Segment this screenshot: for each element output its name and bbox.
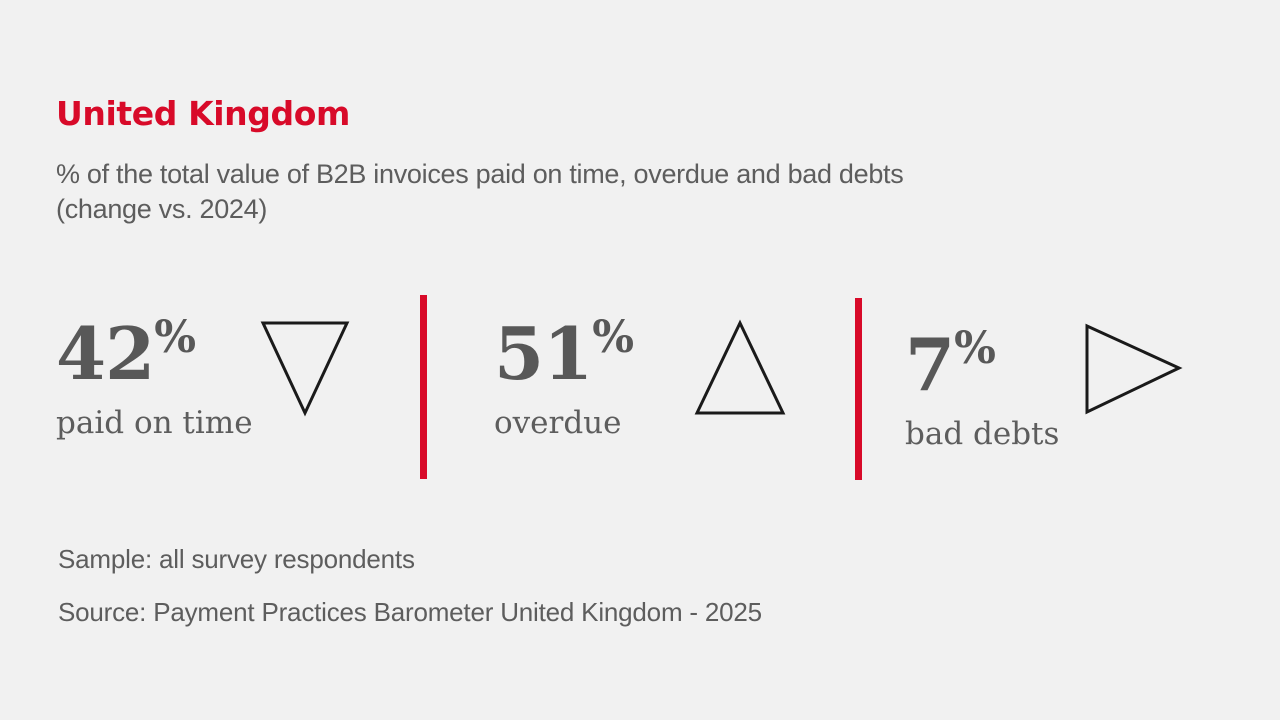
triangle-down-icon — [260, 319, 350, 417]
percent-sign: % — [954, 323, 995, 374]
stat-label-bad-debts: bad debts — [905, 417, 1059, 451]
stat-label-paid-on-time: paid on time — [56, 406, 253, 440]
triangle-right-icon — [1083, 322, 1183, 416]
stat-number: 42 — [56, 311, 154, 396]
stat-label-overdue: overdue — [494, 406, 633, 440]
stat-value-bad-debts: 7% — [905, 329, 1059, 401]
sample-note: Sample: all survey respondents — [58, 533, 762, 586]
stat-value-paid-on-time: 42% — [56, 318, 253, 390]
source-note: Source: Payment Practices Barometer Unit… — [58, 586, 762, 639]
infographic-canvas: United Kingdom % of the total value of B… — [0, 0, 1280, 720]
stat-block-bad-debts: 7% bad debts — [905, 329, 1059, 451]
stat-number: 51 — [494, 311, 592, 396]
stat-block-overdue: 51% overdue — [494, 318, 633, 440]
stat-number: 7 — [905, 322, 954, 407]
percent-sign: % — [592, 312, 633, 363]
stat-block-paid-on-time: 42% paid on time — [56, 318, 253, 440]
footer-notes: Sample: all survey respondents Source: P… — [58, 533, 762, 639]
triangle-up-icon — [694, 319, 786, 417]
stat-value-overdue: 51% — [494, 318, 633, 390]
divider-red-2 — [855, 298, 862, 480]
percent-sign: % — [154, 312, 195, 363]
divider-red-1 — [420, 295, 427, 479]
